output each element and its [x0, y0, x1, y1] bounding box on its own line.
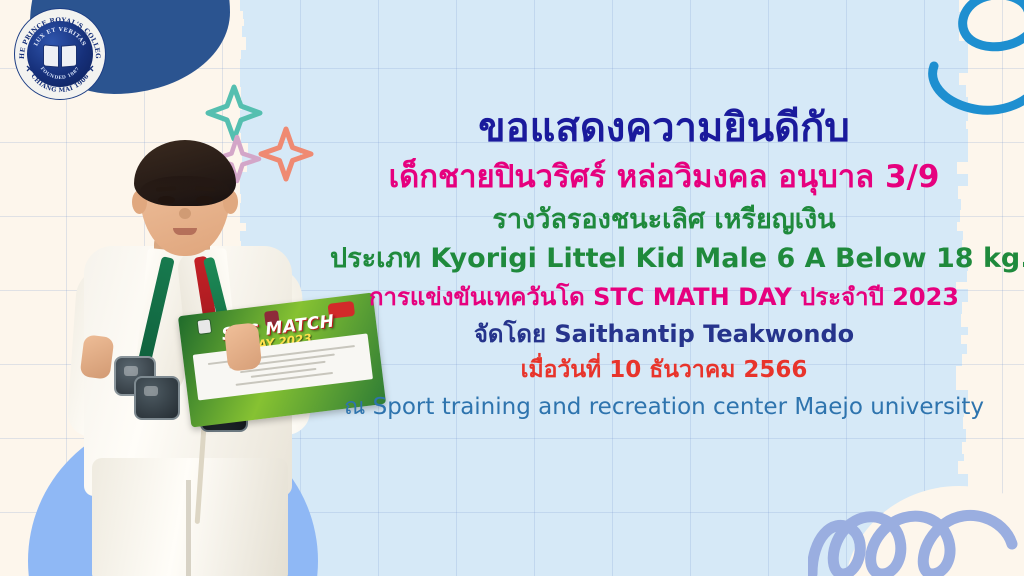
crest-motto-text: LUX ET VERITAS FOUNDED 1887 — [14, 8, 106, 100]
photo-pants-seam — [186, 480, 191, 576]
school-crest-logo: THE PRINCE ROYAL'S COLLEGE CHIANG MAI 19… — [14, 8, 106, 100]
photo-eye-right — [196, 196, 213, 204]
headline-congratulations: ขอแสดงความยินดีกับ — [330, 104, 998, 153]
svg-text:FOUNDED 1887: FOUNDED 1887 — [39, 66, 81, 81]
announcement-text-block: ขอแสดงความยินดีกับ เด็กชายปินวริศร์ หล่อ… — [330, 104, 998, 421]
photo-hand-left — [80, 334, 115, 379]
venue-line: ณ Sport training and recreation center M… — [330, 393, 998, 421]
medal-one — [134, 376, 180, 420]
photo-eye-left — [158, 196, 175, 204]
congratulations-poster: THE PRINCE ROYAL'S COLLEGE CHIANG MAI 19… — [0, 0, 1024, 576]
photo-hair-fringe — [140, 176, 230, 198]
date-line: เมื่อวันที่ 10 ธันวาคม 2566 — [330, 356, 998, 384]
photo-nose — [179, 208, 191, 219]
svg-text:LUX ET VERITAS: LUX ET VERITAS — [33, 27, 86, 47]
loop-scribble-icon — [808, 482, 1018, 576]
photo-hand-right — [224, 322, 263, 371]
photo-mouth — [173, 228, 197, 235]
student-photo: STC MATCH DAY 2023 — [48, 128, 338, 576]
category-line: ประเภท Kyorigi Littel Kid Male 6 A Below… — [330, 243, 998, 276]
event-line: การแข่งขันเทควันโด STC MATH DAY ประจำปี … — [330, 283, 998, 312]
award-line: รางวัลรองชนะเลิศ เหรียญเงิน — [330, 204, 998, 237]
student-name-line: เด็กชายปินวริศร์ หล่อวิมงคล อนุบาล 3/9 — [330, 159, 998, 197]
organizer-line: จัดโดย Saithantip Teakwondo — [330, 320, 998, 349]
